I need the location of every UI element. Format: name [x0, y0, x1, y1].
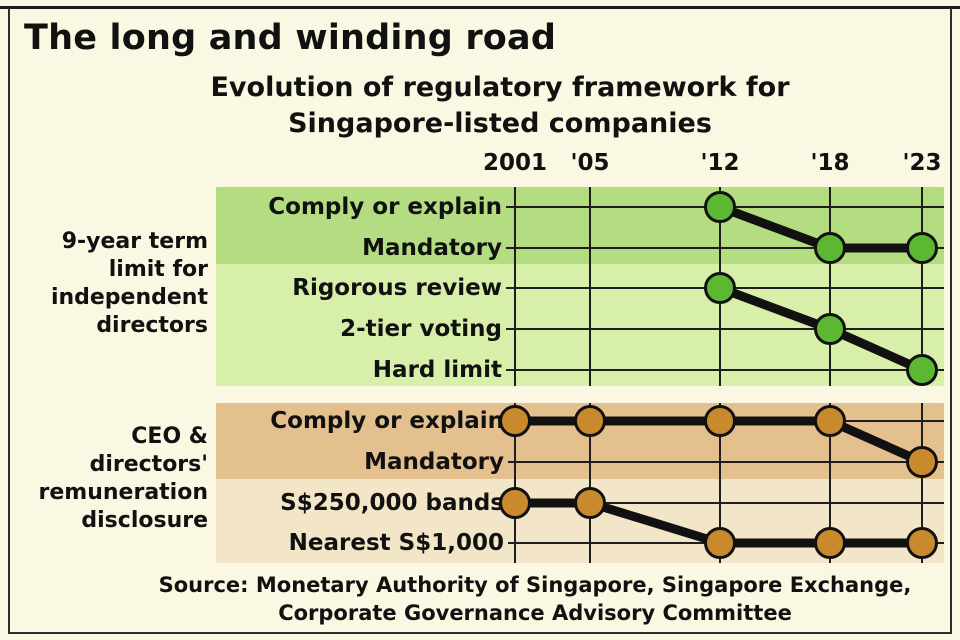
gridline-horizontal-remuneration-3 — [508, 502, 944, 504]
chart-page: The long and winding road Evolution of r… — [0, 0, 960, 640]
category-label-line-2: directors' — [10, 451, 208, 479]
category-label-line-4: disclosure — [10, 507, 208, 535]
source-line-2: Corporate Governance Advisory Committee — [120, 600, 950, 628]
category-label-line-1: CEO & — [10, 423, 208, 451]
row-label-remuneration-4: Nearest S$1,000 — [220, 530, 504, 556]
gridline-vertical-remuneration-2 — [589, 403, 591, 563]
gridline-vertical-remuneration-3 — [719, 403, 721, 563]
source-line-1: Source: Monetary Authority of Singapore,… — [120, 572, 950, 600]
gridline-horizontal-remuneration-2 — [508, 461, 944, 463]
gridline-horizontal-remuneration-1 — [508, 420, 944, 422]
row-label-term-limit-4: 2-tier voting — [220, 316, 502, 342]
gridline-horizontal-term-limit-1 — [506, 206, 944, 208]
row-label-remuneration-3: S$250,000 bands — [220, 490, 504, 516]
axis-tick-5: '23 — [882, 150, 960, 176]
row-label-term-limit-1: Comply or explain — [220, 194, 502, 220]
gridline-horizontal-term-limit-2 — [506, 247, 944, 249]
gridline-vertical-remuneration-1 — [514, 403, 516, 563]
gridline-horizontal-term-limit-5 — [506, 369, 944, 371]
row-label-term-limit-2: Mandatory — [220, 235, 502, 261]
category-label-line-2: limit for — [10, 256, 208, 284]
category-label-line-3: independent — [10, 284, 208, 312]
category-label-remuneration: CEO &directors'remunerationdisclosure — [10, 423, 208, 536]
gridline-horizontal-remuneration-4 — [508, 542, 944, 544]
axis-tick-1: 2001 — [475, 150, 555, 176]
category-label-line-3: remuneration — [10, 479, 208, 507]
axis-tick-4: '18 — [790, 150, 870, 176]
plot-area: 2001'05'12'18'23Comply or explainMandato… — [0, 0, 960, 640]
gridline-vertical-remuneration-4 — [829, 403, 831, 563]
row-label-remuneration-1: Comply or explain — [220, 408, 504, 434]
axis-tick-3: '12 — [680, 150, 760, 176]
category-label-line-1: 9-year term — [10, 228, 208, 256]
row-label-term-limit-3: Rigorous review — [220, 275, 502, 301]
category-label-term-limit: 9-year termlimit forindependentdirectors — [10, 228, 208, 341]
gridline-horizontal-term-limit-4 — [506, 328, 944, 330]
source-note: Source: Monetary Authority of Singapore,… — [120, 572, 950, 627]
axis-tick-2: '05 — [550, 150, 630, 176]
row-label-term-limit-5: Hard limit — [220, 357, 502, 383]
gridline-horizontal-term-limit-3 — [506, 287, 944, 289]
gridline-vertical-remuneration-5 — [921, 403, 923, 563]
row-label-remuneration-2: Mandatory — [220, 449, 504, 475]
category-label-line-4: directors — [10, 312, 208, 340]
